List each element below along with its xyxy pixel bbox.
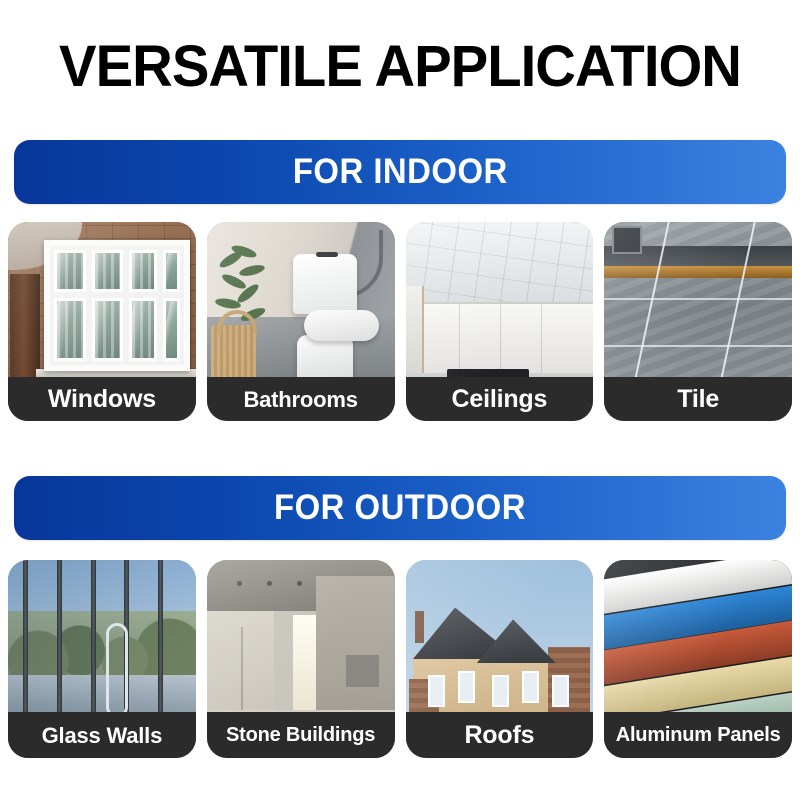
card-stone-buildings[interactable]: Stone Buildings: [207, 560, 395, 758]
page-title: VERSATILE APPLICATION: [12, 36, 788, 98]
card-row-indoor: Windows: [8, 222, 792, 421]
card-caption-ceilings: Ceilings: [406, 377, 594, 421]
versatile-application-infographic: VERSATILE APPLICATION FOR INDOOR: [0, 0, 800, 800]
card-caption-stone-buildings: Stone Buildings: [207, 712, 395, 758]
card-label-aluminum-panels: Aluminum Panels: [616, 722, 781, 749]
card-caption-glass-walls: Glass Walls: [8, 712, 196, 758]
card-caption-tile: Tile: [604, 377, 792, 421]
card-aluminum-panels[interactable]: Aluminum Panels: [604, 560, 792, 758]
card-label-tile: Tile: [677, 386, 719, 413]
card-label-bathrooms: Bathrooms: [243, 386, 357, 413]
card-label-stone-buildings: Stone Buildings: [226, 722, 375, 749]
section-banner-indoor: FOR INDOOR: [14, 140, 786, 204]
section-banner-outdoor: FOR OUTDOOR: [14, 476, 786, 540]
card-label-roofs: Roofs: [464, 722, 534, 749]
section-banner-outdoor-label: FOR OUTDOOR: [274, 489, 526, 527]
card-caption-roofs: Roofs: [406, 712, 594, 758]
card-glass-walls[interactable]: Glass Walls: [8, 560, 196, 758]
card-windows[interactable]: Windows: [8, 222, 196, 421]
card-label-glass-walls: Glass Walls: [42, 722, 163, 749]
card-roofs[interactable]: Roofs: [406, 560, 594, 758]
card-label-windows: Windows: [48, 386, 156, 413]
section-banner-indoor-label: FOR INDOOR: [293, 153, 508, 191]
card-ceilings[interactable]: Ceilings: [406, 222, 594, 421]
card-tile[interactable]: Tile: [604, 222, 792, 421]
card-bathrooms[interactable]: Bathrooms: [207, 222, 395, 421]
card-label-ceilings: Ceilings: [452, 386, 548, 413]
card-caption-bathrooms: Bathrooms: [207, 377, 395, 421]
card-caption-windows: Windows: [8, 377, 196, 421]
card-caption-aluminum-panels: Aluminum Panels: [604, 712, 792, 758]
card-row-outdoor: Glass Walls Stone Buildings: [8, 560, 792, 758]
